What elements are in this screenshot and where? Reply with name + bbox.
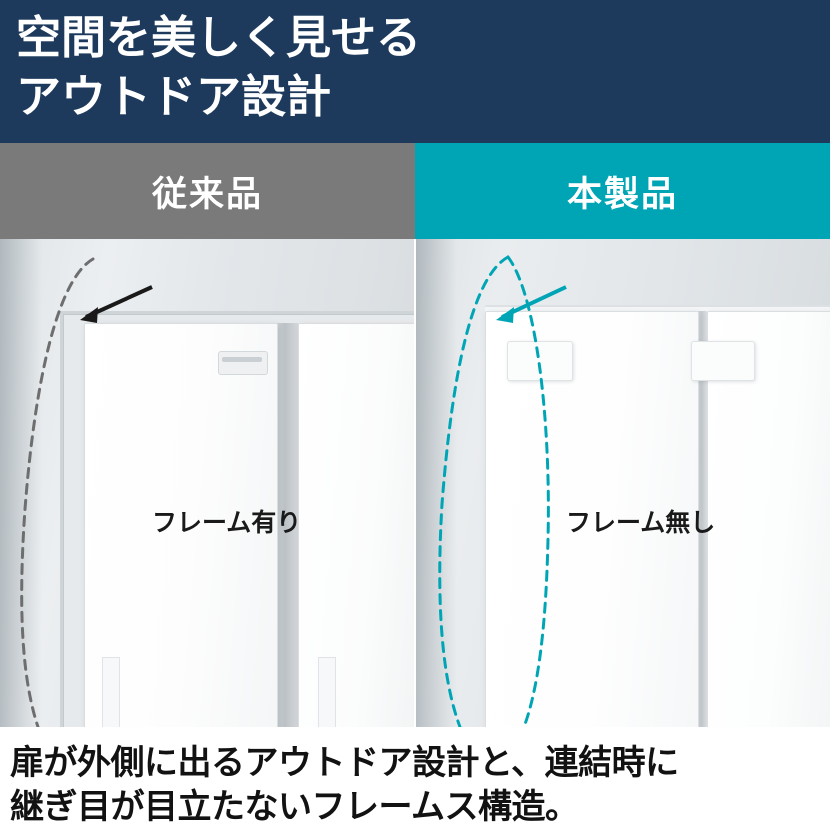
infographic-page: 空間を美しく見せる アウトドア設計 従来品 本製品 <box>0 0 830 830</box>
header-title-line1: 空間を美しく見せる <box>16 12 421 63</box>
tab-this-product-label: 本製品 <box>567 166 678 217</box>
cabinet-handle-plate <box>218 351 268 375</box>
cabinet-latch-plate-right <box>691 341 755 381</box>
header-title-line2: アウトドア設計 <box>16 67 421 126</box>
tab-conventional[interactable]: 従来品 <box>0 143 415 239</box>
cabinet-foot-left <box>102 657 120 727</box>
panel-divider <box>414 239 416 727</box>
tab-conventional-label: 従来品 <box>152 166 263 217</box>
footer-caption-line2: 継ぎ目が目立たないフレームス構造。 <box>10 779 578 828</box>
footer-caption-line1: 扉が外側に出るアウトドア設計と、連結時に <box>10 735 679 784</box>
this-product-photo <box>415 239 830 727</box>
annotation-label-left: フレーム有り <box>152 503 301 539</box>
header-title: 空間を美しく見せる アウトドア設計 <box>16 8 421 126</box>
photo-edge-shadow <box>415 239 457 727</box>
comparison-tabbar: 従来品 本製品 <box>0 143 830 239</box>
conventional-product-photo <box>0 239 415 727</box>
cabinet-handle-bar <box>222 357 262 362</box>
cabinet-latch-plate-left <box>507 341 573 381</box>
cabinet-door-right <box>298 323 415 727</box>
tab-this-product[interactable]: 本製品 <box>415 143 830 239</box>
photo-edge-shadow <box>0 239 42 727</box>
header-banner: 空間を美しく見せる アウトドア設計 <box>0 0 830 143</box>
annotation-label-right: フレーム無し <box>566 503 715 539</box>
cabinet-foot-right <box>318 657 336 727</box>
